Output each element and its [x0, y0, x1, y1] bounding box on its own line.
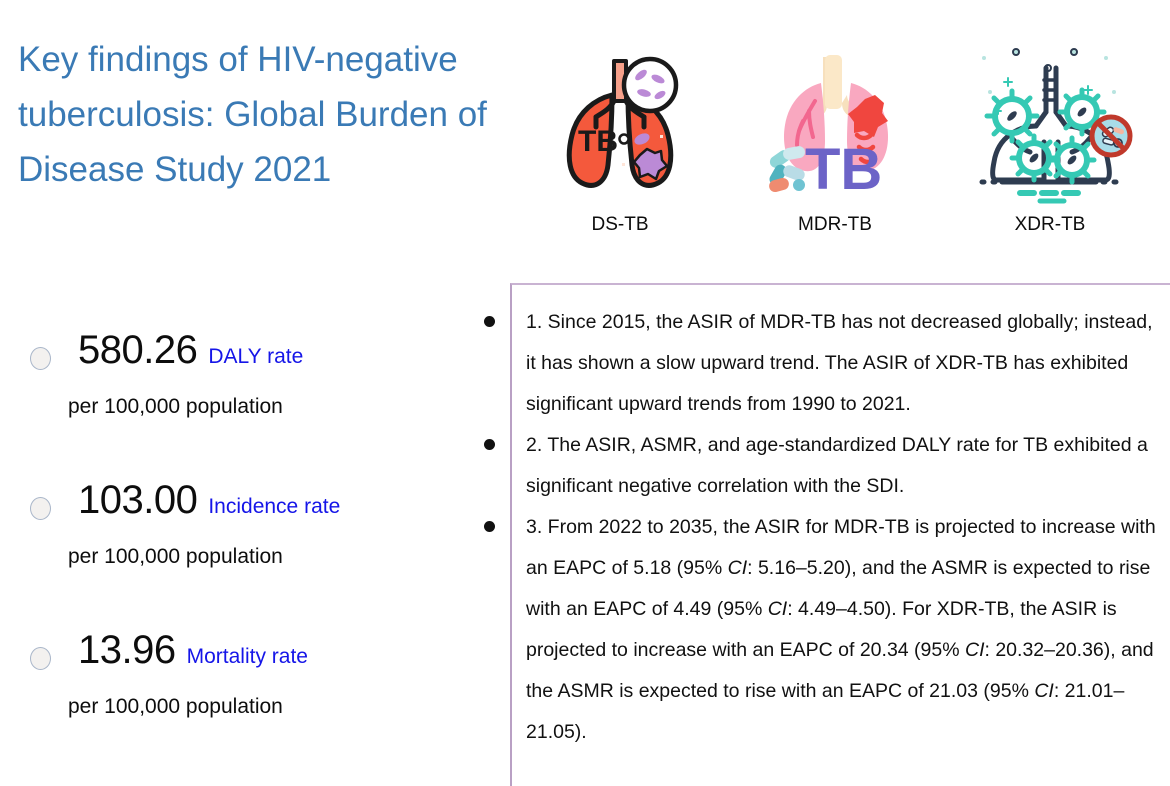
finding-item: 1. Since 2015, the ASIR of MDR-TB has no…: [512, 302, 1162, 425]
bullet-icon: [484, 439, 495, 450]
finding-item: 3. From 2022 to 2035, the ASIR for MDR-T…: [512, 507, 1162, 753]
key-statistics-list: 580.26 DALY rate per 100,000 population …: [0, 330, 470, 780]
ds-tb-lungs-icon: TB: [520, 20, 720, 215]
circle-bullet-icon: [30, 347, 51, 370]
tb-type-cell-mdr: TB MDR-TB: [735, 20, 935, 270]
circle-bullet-icon: [30, 497, 51, 520]
stat-value: 13.96: [78, 630, 176, 670]
tb-type-cell-ds: TB DS-TB: [520, 20, 720, 270]
tb-type-cell-xdr: XDR-TB: [950, 20, 1150, 270]
finding-text: 3. From 2022 to 2035, the ASIR for MDR-T…: [526, 516, 1156, 743]
mdr-tb-lungs-pills-icon: TB: [735, 20, 935, 215]
stat-label: DALY rate: [208, 346, 303, 367]
stat-value: 580.26: [78, 330, 197, 370]
tb-type-icons-row: TB DS-TB: [500, 20, 1170, 270]
finding-text: 2. The ASIR, ASMR, and age-standardized …: [526, 434, 1148, 497]
bullet-icon: [484, 521, 495, 532]
stat-item: 103.00 Incidence rate per 100,000 popula…: [0, 480, 470, 630]
bullet-icon: [484, 316, 495, 327]
stat-sublabel: per 100,000 population: [68, 396, 470, 417]
key-findings-box: 1. Since 2015, the ASIR of MDR-TB has no…: [510, 283, 1170, 786]
svg-text:TB: TB: [578, 125, 618, 158]
stat-sublabel: per 100,000 population: [68, 696, 470, 717]
stat-value: 103.00: [78, 480, 197, 520]
stat-label: Incidence rate: [208, 496, 340, 517]
stat-label: Mortality rate: [187, 646, 308, 667]
finding-text: 1. Since 2015, the ASIR of MDR-TB has no…: [526, 311, 1153, 415]
svg-text:TB: TB: [805, 137, 882, 193]
stat-sublabel: per 100,000 population: [68, 546, 470, 567]
xdr-tb-lungs-bacteria-nodrug-icon: [950, 20, 1150, 215]
icon-caption: XDR-TB: [950, 215, 1150, 234]
circle-bullet-icon: [30, 647, 51, 670]
stat-item: 580.26 DALY rate per 100,000 population: [0, 330, 470, 480]
icon-caption: MDR-TB: [735, 215, 935, 234]
no-drug-icon: [1092, 117, 1130, 155]
finding-item: 2. The ASIR, ASMR, and age-standardized …: [512, 425, 1162, 507]
findings-list: 1. Since 2015, the ASIR of MDR-TB has no…: [512, 285, 1170, 753]
icon-caption: DS-TB: [520, 215, 720, 234]
stat-item: 13.96 Mortality rate per 100,000 populat…: [0, 630, 470, 780]
page-title: Key findings of HIV-negative tuberculosi…: [18, 32, 488, 197]
